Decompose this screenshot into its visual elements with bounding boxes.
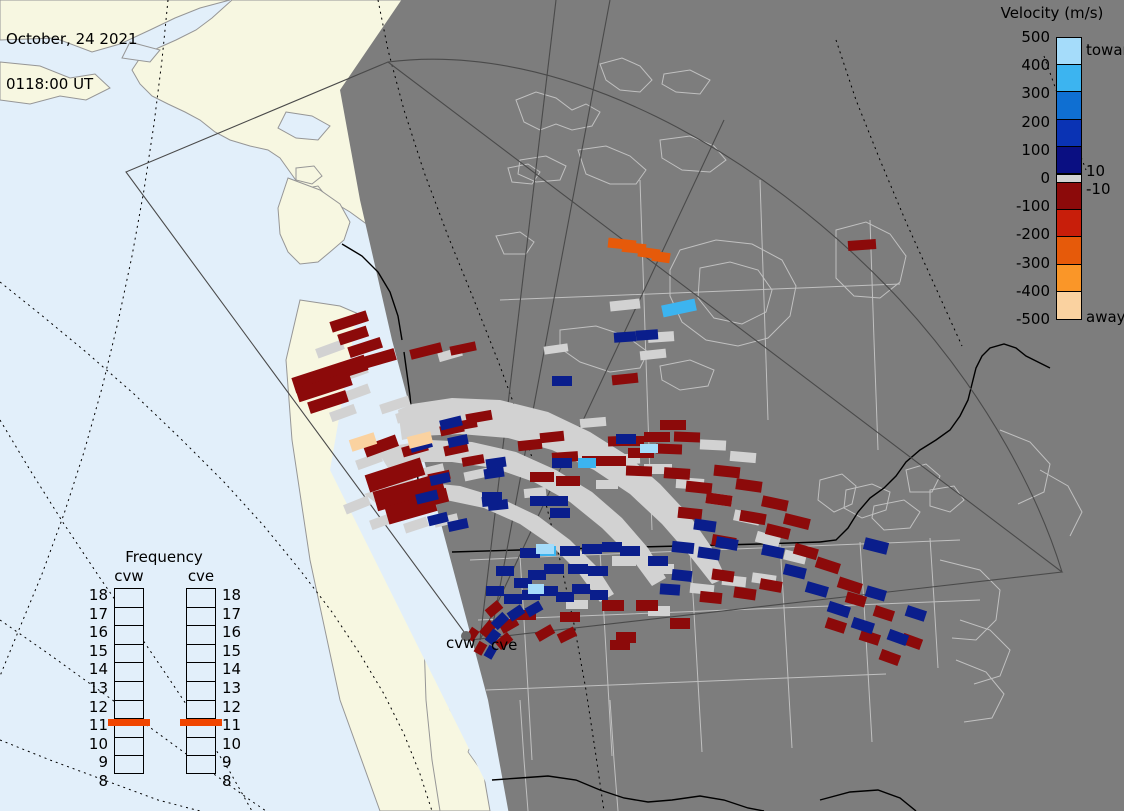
frequency-tick-12: 12 <box>89 700 108 715</box>
velocity-tick--300: -300 <box>1016 256 1050 271</box>
frequency-tick-15: 15 <box>89 644 108 659</box>
velocity-positive-threshold-label: 10 <box>1086 164 1105 179</box>
velocity-band-9 <box>1057 265 1081 292</box>
velocity-tick--200: -200 <box>1016 227 1050 242</box>
frequency-tick-14: 14 <box>222 662 241 677</box>
frequency-tick-17: 17 <box>89 607 108 622</box>
frequency-tick-11: 11 <box>89 718 108 733</box>
velocity-tick-500: 500 <box>1021 30 1050 45</box>
frequency-scale-cvw <box>114 588 144 774</box>
velocity-away-label: away <box>1086 310 1124 325</box>
frequency-tick-18: 18 <box>89 588 108 603</box>
frequency-cell <box>187 645 215 664</box>
frequency-cell <box>115 738 143 757</box>
frequency-cell <box>187 589 215 608</box>
frequency-tick-9: 9 <box>98 755 108 770</box>
velocity-tick--500: -500 <box>1016 312 1050 327</box>
frequency-tick-14: 14 <box>89 662 108 677</box>
frequency-cell <box>115 701 143 720</box>
velocity-toward-label: toward <box>1086 43 1124 58</box>
timestamp-date: October, 24 2021 <box>6 32 138 47</box>
velocity-band-2 <box>1057 92 1081 119</box>
timestamp-time: 0118:00 UT <box>6 77 138 92</box>
frequency-tick-11: 11 <box>222 718 241 733</box>
velocity-band-4 <box>1057 147 1081 174</box>
frequency-tick-8: 8 <box>222 774 232 789</box>
velocity-tick-400: 400 <box>1021 58 1050 73</box>
velocity-tick-100: 100 <box>1021 143 1050 158</box>
frequency-tick-17: 17 <box>222 607 241 622</box>
frequency-tick-15: 15 <box>222 644 241 659</box>
velocity-legend-title: Velocity (m/s) <box>982 4 1122 22</box>
velocity-side-labels: toward10-10away <box>1086 28 1124 328</box>
frequency-cell <box>187 701 215 720</box>
frequency-tick-16: 16 <box>222 625 241 640</box>
velocity-tick-labels: 5004003002001000-100-200-300-400-500 <box>980 28 1050 328</box>
velocity-band-5 <box>1057 174 1081 183</box>
frequency-column-label-cvw: cvw <box>99 567 159 585</box>
frequency-tick-8: 8 <box>98 774 108 789</box>
radar-site-label-cvw: cvw <box>446 634 475 652</box>
frequency-cell <box>115 645 143 664</box>
frequency-tick-13: 13 <box>89 681 108 696</box>
velocity-band-0 <box>1057 38 1081 65</box>
frequency-legend-title: Frequency <box>84 548 244 566</box>
radar-site-label-cve: cve <box>491 636 517 654</box>
velocity-tick-300: 300 <box>1021 86 1050 101</box>
frequency-tick-9: 9 <box>222 755 232 770</box>
velocity-band-7 <box>1057 210 1081 237</box>
velocity-tick-0: 0 <box>1040 171 1050 186</box>
velocity-colorbar <box>1056 37 1082 320</box>
velocity-tick--100: -100 <box>1016 199 1050 214</box>
frequency-scale-cve <box>186 588 216 774</box>
frequency-tick-10: 10 <box>89 737 108 752</box>
velocity-band-6 <box>1057 183 1081 210</box>
velocity-tick--400: -400 <box>1016 284 1050 299</box>
velocity-band-3 <box>1057 120 1081 147</box>
frequency-cell <box>187 626 215 645</box>
frequency-cell <box>115 756 143 775</box>
timestamp-overlay: October, 24 2021 0118:00 UT <box>6 2 138 122</box>
frequency-tick-16: 16 <box>89 625 108 640</box>
frequency-marker-cvw <box>108 719 150 726</box>
frequency-cell <box>187 608 215 627</box>
frequency-cell <box>115 589 143 608</box>
frequency-marker-cve <box>180 719 222 726</box>
radar-map-view: October, 24 2021 0118:00 UT Velocity (m/… <box>0 0 1124 811</box>
frequency-cell <box>115 682 143 701</box>
frequency-cell <box>115 626 143 645</box>
velocity-band-1 <box>1057 65 1081 92</box>
frequency-tick-12: 12 <box>222 700 241 715</box>
frequency-cell <box>187 663 215 682</box>
frequency-cell <box>187 738 215 757</box>
velocity-tick-200: 200 <box>1021 115 1050 130</box>
velocity-negative-threshold-label: -10 <box>1086 182 1111 197</box>
frequency-cell <box>187 756 215 775</box>
frequency-cell <box>187 682 215 701</box>
frequency-tick-13: 13 <box>222 681 241 696</box>
frequency-cell <box>115 608 143 627</box>
frequency-legend: Frequency cvw18171615141312111098cve1817… <box>84 548 244 788</box>
velocity-band-8 <box>1057 237 1081 264</box>
frequency-tick-10: 10 <box>222 737 241 752</box>
velocity-band-10 <box>1057 292 1081 319</box>
frequency-tick-18: 18 <box>222 588 241 603</box>
frequency-cell <box>115 663 143 682</box>
